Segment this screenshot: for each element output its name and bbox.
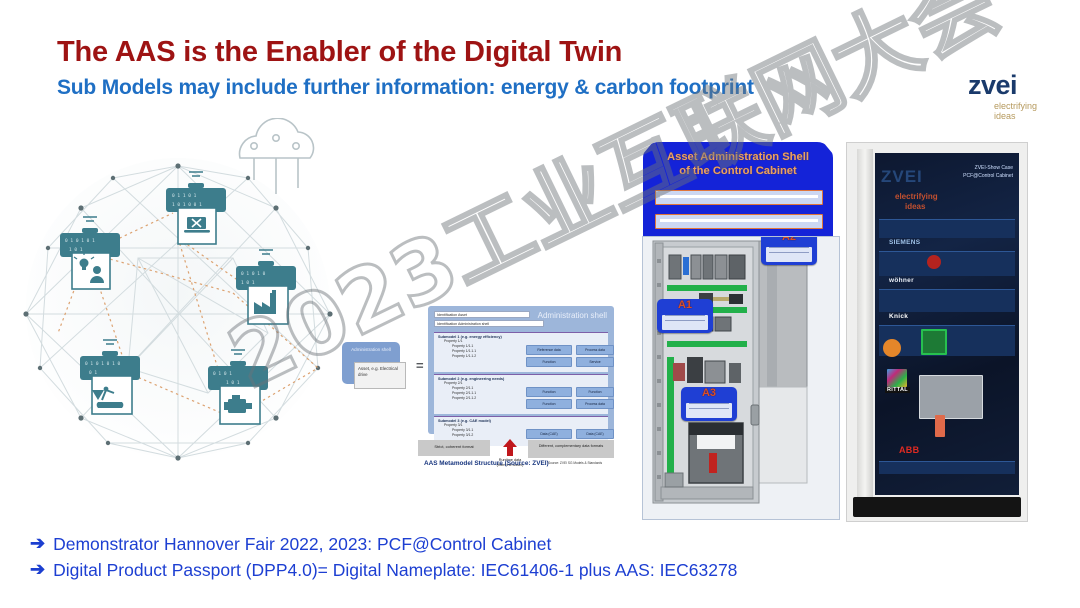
svg-text:1 0 1: 1 0 1 [69,247,83,253]
photo-overlay-line1: ZVEI-Show Case [975,165,1013,171]
page-subtitle: Sub Models may include further informati… [57,76,754,100]
zvei-logo-wordmark: zvei [968,72,1068,99]
badge-a2-label: A2 [761,236,817,243]
aas-metamodel-diagram: Administration shell Asset, e.g. Electri… [332,300,622,472]
zvei-tagline-line1: electrifying [994,101,1068,111]
badge-a1-label: A1 [657,299,713,311]
asset-node-factory: 0 1 0 1 01 0 1 [236,250,296,324]
arrow-right-icon: ➔ [30,559,45,580]
bullet-item-2: ➔ Digital Product Passport (DPP4.0)= Dig… [30,559,970,581]
badge-a3-lines [686,403,732,418]
bullet-item-1: ➔ Demonstrator Hannover Fair 2022, 2023:… [30,533,970,555]
administration-shell-panel: Administration shell Identification Asse… [428,306,614,434]
aas-shield-bar-1 [655,190,823,205]
asset-node-laptop-tools: 0 1 1 0 11 0 1 0 0 1 [166,172,226,244]
slide-canvas: The AAS is the Enabler of the Digital Tw… [0,0,1080,608]
red-pushbutton [927,255,941,269]
different-format-box: Different, complementary data formats [528,440,614,458]
brand-siemens: SIEMENS [889,239,920,246]
footer-bullets: ➔ Demonstrator Hannover Fair 2022, 2023:… [30,533,970,585]
equals-sign: = [416,358,424,373]
svg-text:1 0 1 0 0 1: 1 0 1 0 0 1 [172,202,202,208]
zvei-logo: zvei electrifying ideas [968,72,1068,130]
identification-shell-row: Identification Administration shell [434,320,544,327]
svg-text:0 1 0 1 0: 0 1 0 1 0 [241,271,266,277]
aas-shield-title: Asset Administration Shell of the Contro… [643,150,833,179]
strict-format-box: Strict, coherent format [418,440,490,456]
cabinet-glass-panel: ZVEI electrifying ideas ZVEI-Show Case P… [875,153,1019,495]
photo-overlay-line2: PCF@Control Cabinet [963,173,1013,179]
bullet-1-text: Demonstrator Hannover Fair 2022, 2023: P… [53,533,551,555]
control-cabinet-3d-render: A1 A2 A3 [642,236,840,520]
badge-a1-lines [662,315,708,330]
lower-breaker [919,375,983,419]
submodel-1-chip-3: Service [576,357,614,367]
badge-a1[interactable]: A1 [657,299,713,333]
asset-nodes-svg: 0 1 1 0 11 0 1 0 0 1 0 1 0 1 0 11 [18,118,348,468]
device-strip-5 [879,461,1015,474]
submodel-3-chip-1: Data (CAE) [576,429,614,439]
submodel-2-chip-2: Function [526,399,572,409]
aas-shield-bar-2 [655,214,823,229]
badge-a3-label: A3 [681,387,737,399]
svg-text:0 1 0 1: 0 1 0 1 [213,371,232,377]
svg-text:1 0 1: 1 0 1 [226,380,240,386]
submodel-1-chip-0: Reference data [526,345,572,355]
svg-text:0 1 0 1 0 1 0: 0 1 0 1 0 1 0 [85,361,121,367]
svg-text:0 1 1 0 1: 0 1 1 0 1 [172,193,197,199]
cabinet-door-edge [857,149,873,515]
asset-node-conveyor-robot: 0 1 0 1 0 1 00 1 [80,340,140,414]
brand-knick: Knick [889,313,908,320]
brand-wohner: wöhner [889,277,914,284]
badge-a2-lines [766,247,812,262]
metamodel-caption: AAS Metamodel Structure (Source: ZVEI) [424,460,549,467]
submodel-1: Submodel 1 (e.g. energy efficiency) Prop… [434,332,608,372]
bullet-2-text: Digital Product Passport (DPP4.0)= Digit… [53,559,737,581]
cabinet-render-svg [643,237,839,519]
brand-rittal: RITTAL [885,387,910,393]
control-cabinet-render-group: Asset Administration Shell of the Contro… [628,140,846,520]
aas-shield-title-line1: Asset Administration Shell [643,150,833,164]
arrow-right-icon: ➔ [30,533,45,554]
submodel-2: Submodel 2 (e.g. engineering needs) Prop… [434,374,608,414]
red-handle [935,415,945,437]
badge-a2[interactable]: A2 [761,236,817,265]
submodel-2-chip-3: Process data [576,399,614,409]
submodel-3-chip-0: Data (CAE) [526,429,572,439]
photo-electrifying-line2: ideas [905,203,925,212]
svg-text:0 1: 0 1 [89,370,97,376]
submodel-2-chip-1: Function [576,387,614,397]
control-cabinet-photo: ZVEI electrifying ideas ZVEI-Show Case P… [846,142,1028,522]
identification-asset-row: Identification Asset [434,311,530,318]
badge-a3[interactable]: A3 [681,387,737,421]
device-strip-2 [879,251,1015,276]
asset-node-lightbulb-person: 0 1 0 1 0 11 0 1 [60,217,120,289]
runtime-data-arrow-icon [500,438,520,458]
device-strip-1 [879,219,1015,238]
photo-electrifying-line1: electrifying [895,193,938,202]
asset-box: Asset, e.g. Electrical drive [354,362,406,389]
svg-text:0 1 0 1 0 1: 0 1 0 1 0 1 [65,238,95,244]
zvei-tagline-line2: ideas [994,111,1068,121]
svg-text:1 0 1: 1 0 1 [241,280,255,286]
cabinet-plinth [853,497,1021,517]
photo-zvei-wordmark: ZVEI [881,167,923,187]
submodel-1-chip-1: Process data [576,345,614,355]
metamodel-source-note: Source: ZVEI SG Models & Standards [548,461,602,465]
orange-badge [883,339,901,357]
brand-abb: ABB [899,445,919,455]
submodel-2-chip-0: Function [526,387,572,397]
panel-title: Administration shell [538,311,607,320]
aas-shield-title-line2: of the Control Cabinet [643,164,833,178]
device-strip-3 [879,289,1015,312]
network-illustration: 0 1 1 0 11 0 1 0 0 1 0 1 0 1 0 11 [18,118,348,468]
page-title: The AAS is the Enabler of the Digital Tw… [57,36,622,69]
zvei-logo-tagline: electrifying ideas [994,101,1068,122]
rittal-color-block [887,369,907,387]
green-module [921,329,947,355]
submodel-1-chip-2: Function [526,357,572,367]
asset-node-motor: 0 1 0 11 0 1 [208,350,268,424]
